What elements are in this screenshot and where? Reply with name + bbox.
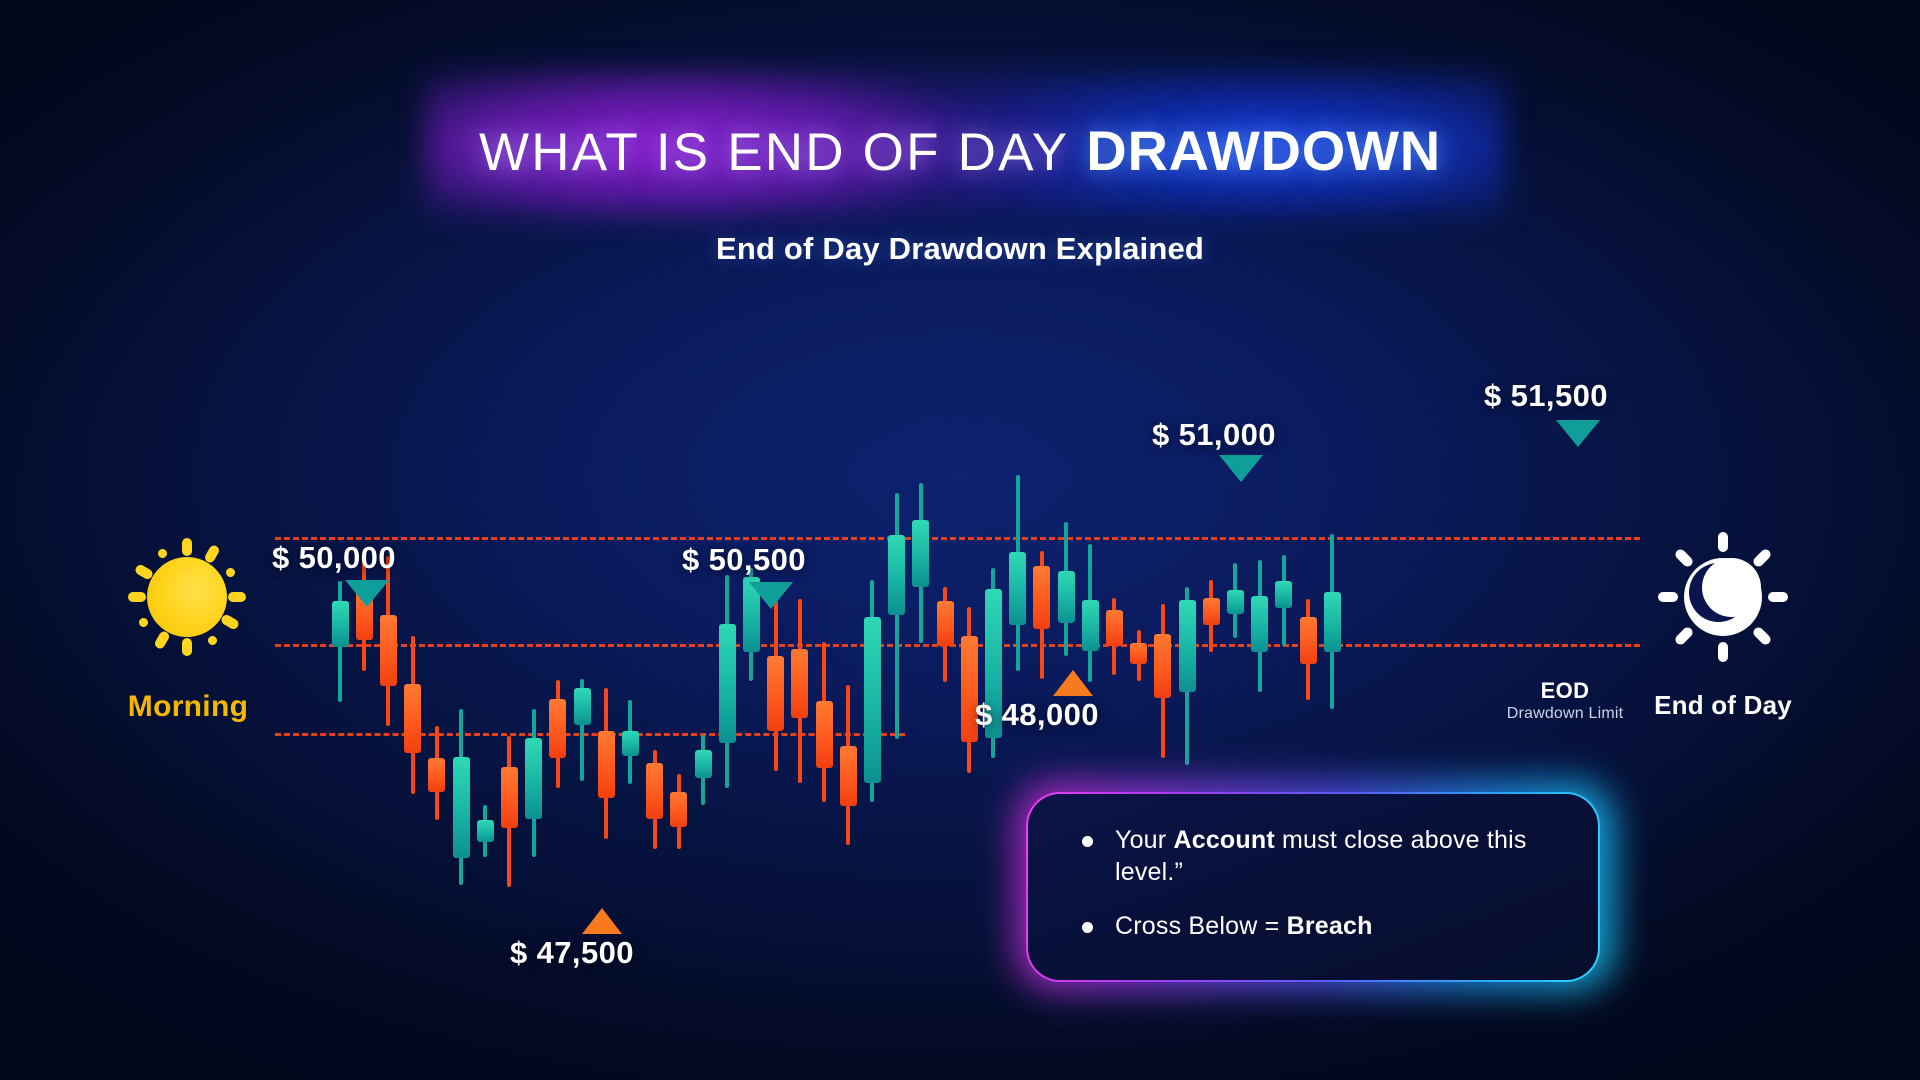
candle-body (332, 601, 349, 646)
candle-7 (501, 736, 518, 887)
callout-inner: Your Account must close above this level… (1028, 794, 1598, 980)
candle-22 (864, 580, 881, 803)
candle-body (404, 684, 421, 753)
moon-icon (1648, 522, 1798, 672)
candle-18 (767, 601, 784, 770)
candle-26 (961, 607, 978, 773)
candle-body (791, 649, 808, 718)
candle-body (670, 792, 687, 827)
candle-32 (1106, 598, 1123, 675)
candle-body (937, 601, 954, 645)
candle-body (525, 738, 542, 820)
candle-10 (574, 679, 591, 781)
candle-body (888, 535, 905, 615)
candle-body (695, 750, 712, 778)
sun-ray (138, 616, 150, 628)
list-item: Cross Below = Breach (1062, 910, 1564, 942)
sun-ray (156, 548, 168, 560)
candle-body (1009, 552, 1026, 625)
candle-19 (791, 599, 808, 783)
candle-12 (622, 700, 639, 784)
candle-37 (1227, 563, 1244, 638)
candle-body (380, 615, 397, 687)
sun-ray (153, 630, 171, 651)
callout-box: Your Account must close above this level… (1026, 792, 1600, 982)
sun-ray (206, 634, 218, 646)
candle-body (1251, 596, 1268, 653)
candle-body (1082, 600, 1099, 651)
candle-36 (1203, 580, 1220, 653)
candle-31 (1082, 544, 1099, 681)
candle-body (1106, 610, 1123, 645)
candle-11 (598, 688, 615, 839)
candle-body (477, 820, 494, 842)
moon-ray (1768, 592, 1788, 602)
end-of-day-label: End of Day (1613, 690, 1833, 721)
candle-40 (1300, 599, 1317, 700)
sun-core (147, 557, 227, 637)
candle-24 (912, 483, 929, 643)
marker-51500 (1556, 420, 1600, 447)
candle-13 (646, 750, 663, 849)
candle-wick (895, 493, 899, 738)
marker-50000 (345, 580, 389, 607)
moon-crescent (1702, 558, 1761, 617)
candle-body (1154, 634, 1171, 698)
callout-bullet-1: Cross Below = Breach (1115, 910, 1373, 942)
callout-bullet-0: Your Account must close above this level… (1115, 824, 1564, 888)
candle-16 (719, 575, 736, 787)
candle-body (840, 746, 857, 806)
candlestick-chart: $ 50,000$ 47,500$ 50,500$ 48,000$ 51,000… (0, 0, 1920, 1080)
candle-body (453, 757, 470, 858)
candle-41 (1324, 534, 1341, 709)
candle-body (1130, 643, 1147, 663)
limit-line-1 (275, 644, 1640, 647)
candle-body (501, 767, 518, 828)
marker-47500 (582, 908, 622, 934)
sun-ray (182, 638, 192, 656)
sun-ray (128, 592, 146, 602)
marker-50500 (749, 582, 793, 609)
candle-14 (670, 774, 687, 849)
candle-body (1227, 590, 1244, 614)
candle-body (1203, 598, 1220, 625)
candle-21 (840, 685, 857, 845)
candle-body (767, 656, 784, 731)
candle-8 (525, 709, 542, 857)
price-label-50000: $ 50,000 (272, 540, 396, 576)
candle-body (598, 731, 615, 798)
moon-ray (1673, 625, 1694, 646)
sun-ray (228, 592, 246, 602)
bullet-dot-icon (1082, 836, 1093, 847)
price-label-48000: $ 48,000 (975, 697, 1099, 733)
candle-body (1324, 592, 1341, 652)
candle-5 (453, 709, 470, 885)
candle-body (1275, 581, 1292, 608)
candle-body (1033, 566, 1050, 628)
candle-25 (937, 587, 954, 682)
candle-23 (888, 493, 905, 738)
candle-body (912, 520, 929, 587)
candle-28 (1009, 475, 1026, 670)
candle-39 (1275, 555, 1292, 646)
candle-body (646, 763, 663, 820)
marker-48000 (1053, 670, 1093, 696)
candle-body (1179, 600, 1196, 692)
candle-body (1058, 571, 1075, 623)
candle-6 (477, 805, 494, 857)
price-label-47500: $ 47,500 (510, 935, 634, 971)
moon-ray (1751, 625, 1772, 646)
list-item: Your Account must close above this level… (1062, 824, 1564, 888)
sun-ray (224, 566, 236, 578)
morning-label: Morning (8, 690, 368, 724)
moon-ray (1673, 547, 1694, 568)
candle-33 (1130, 630, 1147, 681)
candle-20 (816, 642, 833, 802)
candle-body (719, 624, 736, 743)
candle-body (428, 758, 445, 792)
candle-body (816, 701, 833, 768)
candle-body (622, 731, 639, 756)
candle-body (1300, 617, 1317, 664)
candle-body (574, 688, 591, 725)
candle-15 (695, 735, 712, 804)
candle-body (864, 617, 881, 783)
price-label-51500: $ 51,500 (1484, 378, 1608, 414)
price-label-50500: $ 50,500 (682, 542, 806, 578)
sun-ray (220, 613, 241, 631)
candle-30 (1058, 522, 1075, 656)
bullet-dot-icon (1082, 922, 1093, 933)
sun-ray (203, 543, 221, 564)
candle-3 (404, 636, 421, 794)
sun-ray (182, 538, 192, 556)
candle-4 (428, 726, 445, 820)
moon-ray (1751, 547, 1772, 568)
moon-ray (1718, 642, 1728, 662)
sun-icon (108, 518, 266, 676)
price-label-51000: $ 51,000 (1152, 417, 1276, 453)
candle-35 (1179, 587, 1196, 765)
candle-38 (1251, 560, 1268, 692)
limit-line-0 (275, 537, 1640, 540)
moon-ray (1718, 532, 1728, 552)
candle-34 (1154, 604, 1171, 758)
candle-29 (1033, 551, 1050, 678)
marker-51000 (1219, 455, 1263, 482)
candle-9 (549, 680, 566, 788)
candle-body (549, 699, 566, 758)
moon-ray (1658, 592, 1678, 602)
